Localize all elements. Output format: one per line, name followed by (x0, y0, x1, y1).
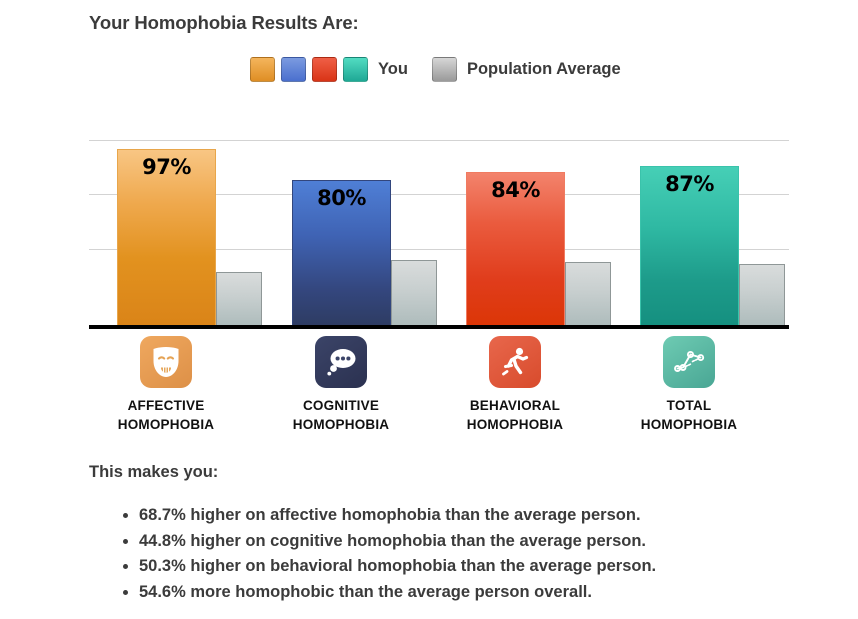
bar-value-behavioral: 84% (467, 178, 564, 202)
legend-swatch-cognitive (281, 57, 306, 82)
thought-bubble-icon (315, 336, 367, 388)
list-item: 54.6% more homophobic than the average p… (139, 580, 656, 606)
drama-mask-icon (140, 336, 192, 388)
bar-average-behavioral (565, 262, 611, 325)
list-item: 68.7% higher on affective homophobia tha… (139, 503, 656, 529)
line-chart-icon (663, 336, 715, 388)
category-label-behavioral: BEHAVIORAL HOMOPHOBIA (435, 396, 595, 434)
category-label-cognitive-line1: COGNITIVE (303, 398, 379, 413)
summary-intro: This makes you: (89, 463, 218, 482)
bar-average-total (739, 264, 785, 325)
gridline-top (89, 140, 789, 141)
chart-legend: You Population Average (250, 56, 623, 82)
running-person-icon (489, 336, 541, 388)
legend-label-you: You (378, 60, 408, 79)
bar-you-total: 87% (640, 166, 739, 325)
results-page: Your Homophobia Results Are: You Populat… (0, 0, 858, 619)
legend-swatch-affective (250, 57, 275, 82)
bar-value-cognitive: 80% (293, 186, 390, 210)
category-label-cognitive-line2: HOMOPHOBIA (293, 417, 390, 432)
legend-swatch-total (343, 57, 368, 82)
category-affective: AFFECTIVE HOMOPHOBIA (86, 336, 246, 434)
category-cognitive: COGNITIVE HOMOPHOBIA (261, 336, 421, 434)
chart-baseline-axis (89, 325, 789, 329)
legend-swatch-population-average (432, 57, 457, 82)
category-label-total-line1: TOTAL (667, 398, 712, 413)
category-label-behavioral-line1: BEHAVIORAL (470, 398, 560, 413)
legend-label-population-average: Population Average (467, 60, 621, 79)
list-item: 44.8% higher on cognitive homophobia tha… (139, 529, 656, 555)
category-label-behavioral-line2: HOMOPHOBIA (467, 417, 564, 432)
bar-value-total: 87% (641, 172, 738, 196)
category-label-affective-line2: HOMOPHOBIA (118, 417, 215, 432)
bar-average-affective (216, 272, 262, 325)
category-total: TOTAL HOMOPHOBIA (609, 336, 769, 434)
category-label-total: TOTAL HOMOPHOBIA (609, 396, 769, 434)
bar-you-behavioral: 84% (466, 172, 565, 325)
bar-average-cognitive (391, 260, 437, 325)
bar-value-affective: 97% (118, 155, 215, 179)
bar-you-affective: 97% (117, 149, 216, 325)
category-label-affective-line1: AFFECTIVE (128, 398, 205, 413)
legend-swatch-behavioral (312, 57, 337, 82)
page-title: Your Homophobia Results Are: (89, 12, 359, 34)
list-item: 50.3% higher on behavioral homophobia th… (139, 554, 656, 580)
category-label-affective: AFFECTIVE HOMOPHOBIA (86, 396, 246, 434)
bar-you-cognitive: 80% (292, 180, 391, 325)
category-behavioral: BEHAVIORAL HOMOPHOBIA (435, 336, 595, 434)
results-bar-chart: 97% 80% 84% 87% (89, 133, 789, 329)
category-label-cognitive: COGNITIVE HOMOPHOBIA (261, 396, 421, 434)
summary-bullet-list: 68.7% higher on affective homophobia tha… (112, 503, 656, 605)
category-label-total-line2: HOMOPHOBIA (641, 417, 738, 432)
